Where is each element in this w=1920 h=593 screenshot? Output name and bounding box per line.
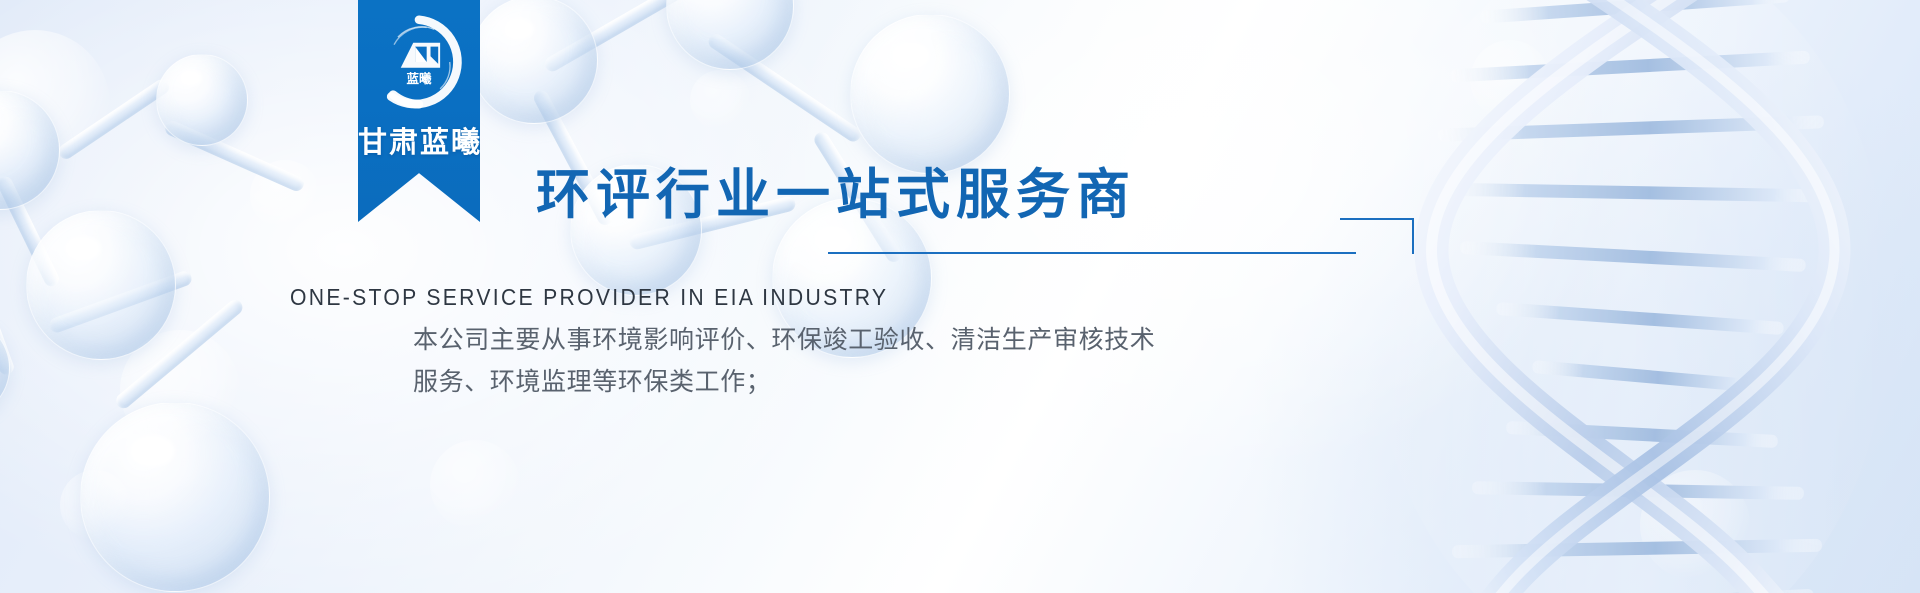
molecule-atom bbox=[156, 54, 248, 146]
description-line-1: 本公司主要从事环境影响评价、环保竣工验收、清洁生产审核技术 bbox=[413, 320, 1155, 362]
bokeh-dot bbox=[960, 480, 1015, 535]
bracket-vertical-line bbox=[1412, 218, 1414, 254]
dna-helix-illustration bbox=[1300, 0, 1920, 593]
molecule-bond bbox=[0, 287, 16, 377]
molecule-atom bbox=[470, 0, 598, 124]
company-name: 甘肃蓝曦 bbox=[358, 119, 480, 161]
hero-banner: 蓝曦 甘肃蓝曦 环评行业一站式服务商 ONE-STOP SERVICE PROV… bbox=[0, 0, 1920, 593]
molecule-bond bbox=[542, 0, 714, 74]
bokeh-dot bbox=[250, 160, 320, 230]
molecule-atom bbox=[0, 318, 10, 418]
bokeh-dot bbox=[690, 70, 750, 130]
bokeh-dot bbox=[60, 470, 130, 540]
molecule-atom bbox=[0, 90, 60, 210]
page-title: 环评行业一站式服务商 bbox=[536, 150, 1136, 229]
company-description: 本公司主要从事环境影响评价、环保竣工验收、清洁生产审核技术 服务、环境监理等环保… bbox=[413, 320, 1155, 404]
bokeh-dot bbox=[1640, 470, 1750, 580]
subtitle-connector-line bbox=[828, 252, 1356, 254]
logo-wordmark: 蓝曦 bbox=[407, 71, 432, 86]
bracket-top-line bbox=[1340, 218, 1414, 220]
molecule-bond bbox=[56, 77, 172, 162]
lanxi-circular-logo: 蓝曦 bbox=[371, 14, 467, 110]
molecule-bond bbox=[706, 31, 864, 144]
molecule-atom bbox=[26, 210, 176, 360]
molecule-bond bbox=[0, 174, 61, 288]
molecule-bond bbox=[113, 297, 245, 411]
molecule-atom bbox=[80, 402, 270, 592]
company-ribbon: 蓝曦 甘肃蓝曦 bbox=[358, 0, 480, 222]
molecule-bond bbox=[47, 269, 193, 334]
bokeh-dot bbox=[0, 30, 110, 180]
bokeh-dot bbox=[1470, 40, 1550, 120]
molecule-bond bbox=[163, 119, 306, 194]
page-subtitle: ONE-STOP SERVICE PROVIDER IN EIA INDUSTR… bbox=[290, 284, 888, 311]
molecule-atom bbox=[666, 0, 794, 70]
bokeh-dot bbox=[120, 330, 240, 450]
bokeh-dot bbox=[430, 440, 520, 530]
description-line-2: 服务、环境监理等环保类工作； bbox=[413, 362, 1155, 404]
